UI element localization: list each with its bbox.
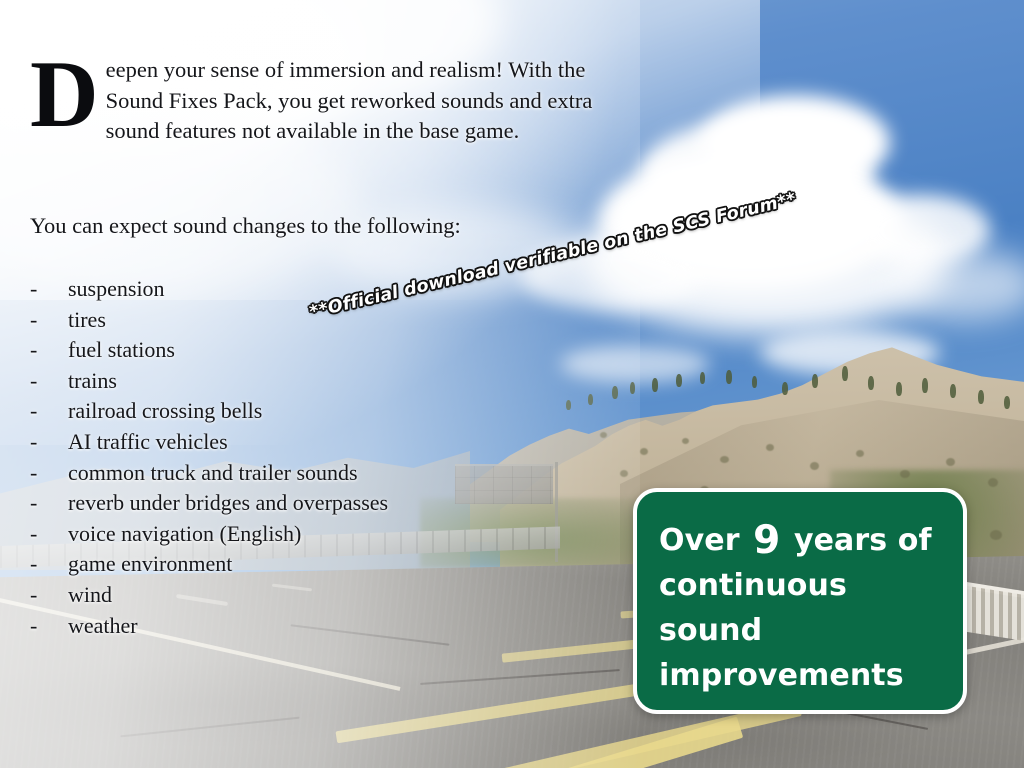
bullet-marker: - [30,337,68,363]
content-layer: Deepen your sense of immersion and reali… [0,0,1024,768]
drop-cap: D [30,58,99,130]
intro-paragraph: Deepen your sense of immersion and reali… [30,55,605,147]
sound-changes-list: -suspension -tires -fuel stations -train… [30,276,590,643]
list-item-label: voice navigation (English) [68,521,590,547]
list-item-label: reverb under bridges and overpasses [68,490,590,516]
sign-prefix: Over [659,523,740,558]
list-item: -railroad crossing bells [30,398,590,429]
bullet-marker: - [30,613,68,639]
bullet-marker: - [30,582,68,608]
milestone-sign: Over 9 years of continuous sound improve… [633,488,967,714]
list-item-label: wind [68,582,590,608]
bullet-marker: - [30,490,68,516]
list-item: -common truck and trailer sounds [30,460,590,491]
list-item-label: common truck and trailer sounds [68,460,590,486]
sign-text: Over 9 years of continuous sound improve… [659,518,963,698]
list-item: -game environment [30,551,590,582]
list-item: -weather [30,613,590,644]
sign-number: 9 [750,518,783,563]
list-item-label: trains [68,368,590,394]
bullet-marker: - [30,460,68,486]
list-item: -reverb under bridges and overpasses [30,490,590,521]
sign-line-4: improvements [659,658,904,693]
intro-body: eepen your sense of immersion and realis… [106,57,593,143]
bullet-marker: - [30,398,68,424]
list-item-label: game environment [68,551,590,577]
list-item: -voice navigation (English) [30,521,590,552]
list-item-label: AI traffic vehicles [68,429,590,455]
list-item: -trains [30,368,590,399]
bullet-marker: - [30,551,68,577]
list-item: -AI traffic vehicles [30,429,590,460]
bullet-marker: - [30,521,68,547]
list-item: -wind [30,582,590,613]
list-item-label: fuel stations [68,337,590,363]
bullet-marker: - [30,368,68,394]
sign-suffix: years of [794,523,932,558]
bullet-marker: - [30,276,68,302]
list-item-label: railroad crossing bells [68,398,590,424]
expect-line: You can expect sound changes to the foll… [30,213,630,239]
bullet-marker: - [30,307,68,333]
list-item: -fuel stations [30,337,590,368]
bullet-marker: - [30,429,68,455]
list-item-label: weather [68,613,590,639]
sign-line-2: continuous [659,568,847,603]
sign-line-3: sound [659,613,762,648]
promo-image: Deepen your sense of immersion and reali… [0,0,1024,768]
